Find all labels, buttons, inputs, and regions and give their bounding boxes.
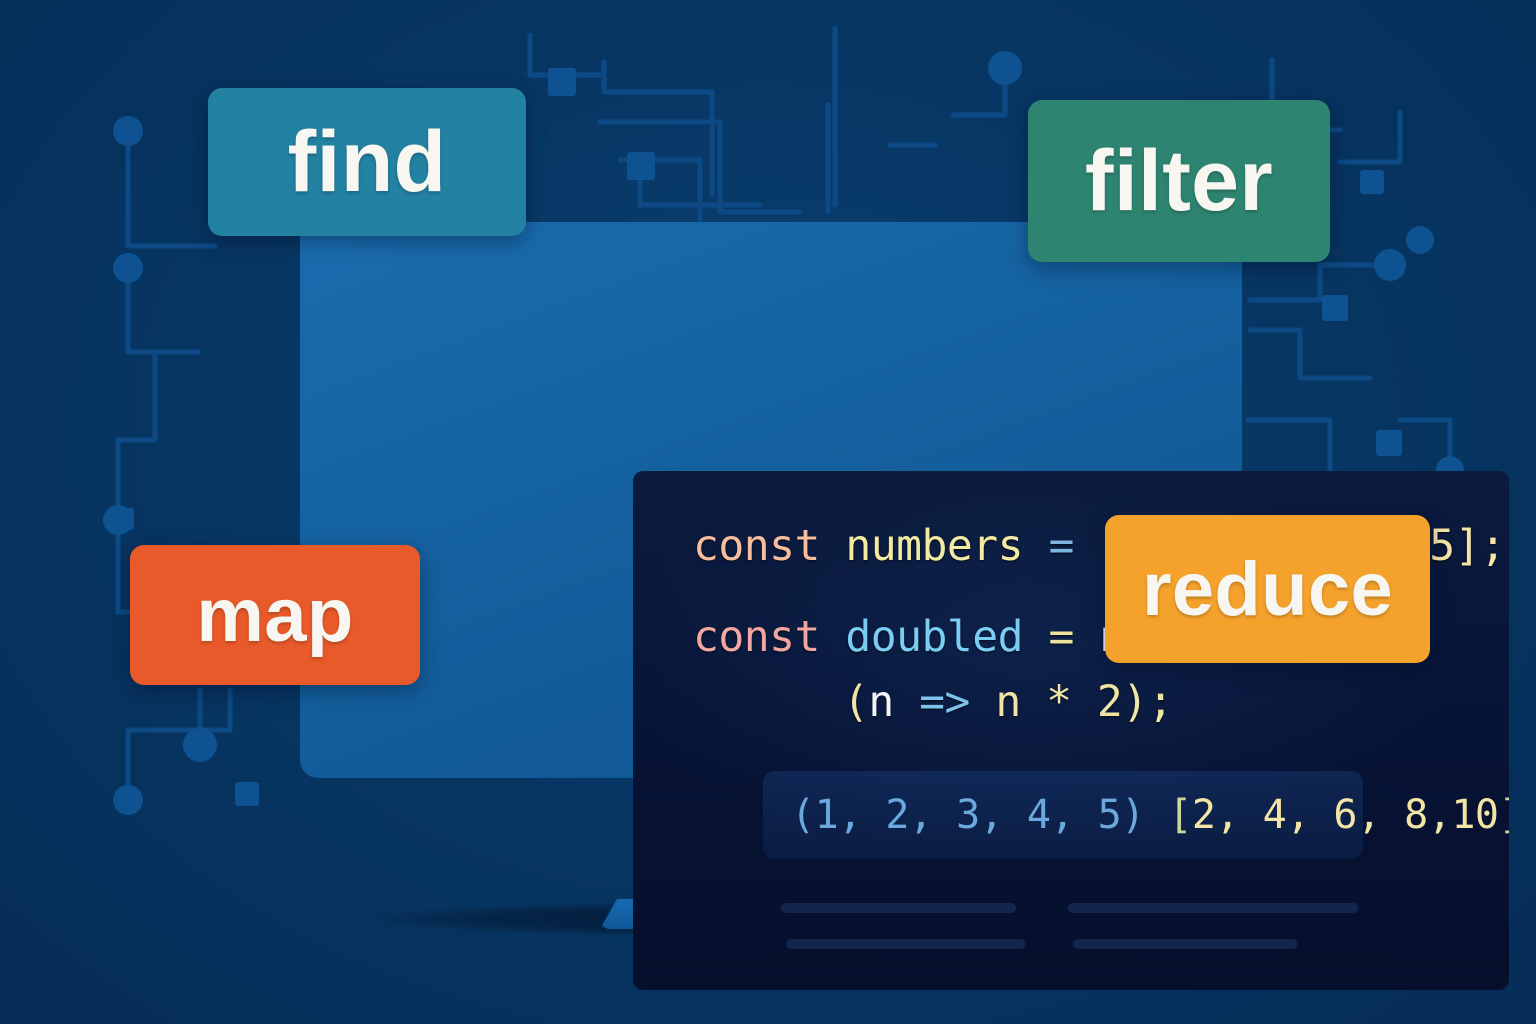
badge-map[interactable]: map (130, 545, 420, 685)
illustration-canvas: const numbers = [1, 2, 3, 4, 5]; const d… (0, 0, 1536, 1024)
badge-filter[interactable]: filter (1028, 100, 1330, 262)
code-identifier-numbers: numbers (820, 521, 1023, 571)
output-result-row: (1, 2, 3, 4, 5) [2, 4, 6, 8,10] (763, 771, 1363, 859)
code-arrow-body: n * 2); (995, 677, 1173, 727)
badge-reduce[interactable]: reduce (1105, 515, 1430, 663)
code-arrow-operator: => (894, 677, 996, 727)
monitor-bezel: const numbers = [1, 2, 3, 4, 5]; const d… (300, 222, 1242, 778)
code-identifier-doubled: doubled (820, 612, 1023, 662)
code-open-paren: ( (843, 677, 868, 727)
code-line-3: (n => n * 2); (693, 681, 1509, 724)
code-param-n: n (868, 677, 893, 727)
badge-filter-label: filter (1085, 132, 1273, 231)
code-operator-equals-1: = (1023, 521, 1099, 571)
code-keyword-const-1: const (693, 521, 820, 571)
output-separator (1145, 792, 1169, 838)
badge-map-label: map (196, 572, 353, 659)
badge-reduce-label: reduce (1142, 546, 1393, 633)
output-input-values: (1, 2, 3, 4, 5) (791, 792, 1145, 838)
code-keyword-const-2: const (693, 612, 820, 662)
code-placeholder-bar (786, 939, 1026, 949)
output-close-bracket: ] (1499, 792, 1510, 838)
code-operator-equals-2: = (1023, 612, 1099, 662)
code-placeholder-bar (781, 903, 1016, 913)
code-placeholder-bar (1068, 903, 1358, 913)
output-result-values: 2, 4, 6, 8,10 (1192, 792, 1499, 838)
code-placeholder-bar (1073, 939, 1298, 949)
badge-find-label: find (288, 113, 447, 212)
badge-find[interactable]: find (208, 88, 526, 236)
output-open-bracket: [ (1168, 792, 1192, 838)
